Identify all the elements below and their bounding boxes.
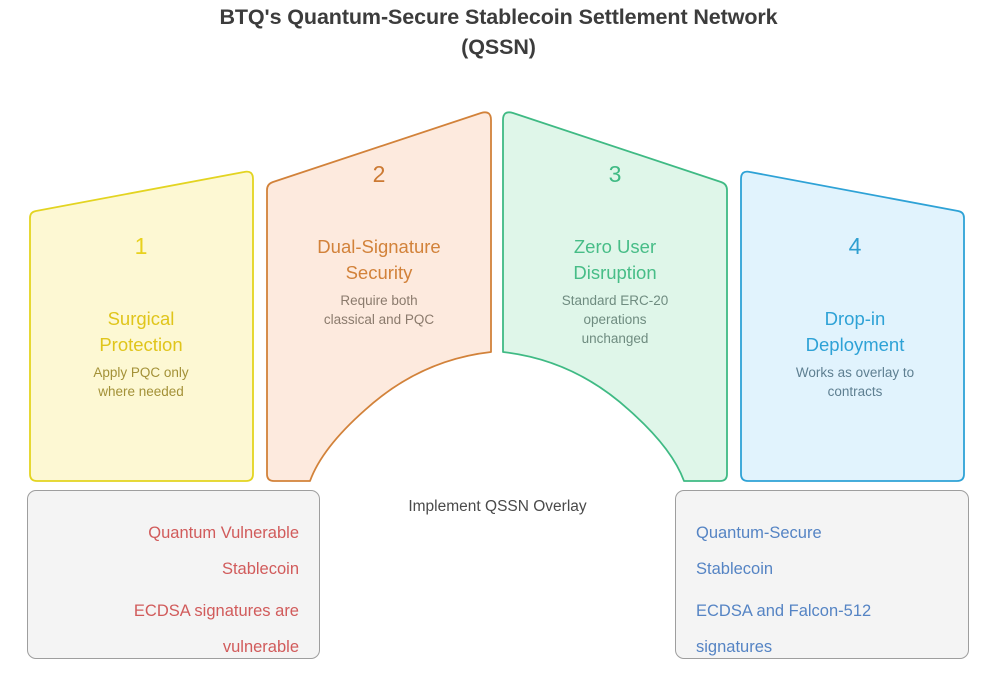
card-3-desc-line-2: operations (504, 310, 726, 329)
card-2-desc-line-1: Require both (268, 291, 490, 310)
right-box-title-line-2: Stablecoin (696, 557, 948, 581)
card-2-gap (268, 285, 490, 291)
card-3-title-line-2: Disruption (504, 260, 726, 286)
card-3-spacer (504, 188, 726, 234)
card-1-spacer (28, 260, 254, 306)
card-shape-2[interactable] (267, 112, 491, 481)
center-caption: Implement QSSN Overlay (330, 496, 665, 518)
card-4-number: 4 (742, 232, 968, 260)
diagram-canvas: BTQ's Quantum-Secure Stablecoin Settleme… (0, 0, 997, 675)
card-3-title-line-1: Zero User (504, 234, 726, 260)
card-4-title-line-2: Deployment (742, 332, 968, 358)
card-4-desc-line-2: contracts (742, 382, 968, 401)
card-3-desc-line-3: unchanged (504, 329, 726, 348)
card-shape-4[interactable] (741, 172, 964, 481)
card-3-number: 3 (504, 160, 726, 188)
right-box-sub-line-2: signatures (696, 635, 948, 659)
card-4-title-line-1: Drop-in (742, 306, 968, 332)
page-title: BTQ's Quantum-Secure Stablecoin Settleme… (0, 2, 997, 62)
card-2-number: 2 (268, 160, 490, 188)
card-4-desc-line-1: Works as overlay to (742, 363, 968, 382)
right-box-sub-line-1: ECDSA and Falcon-512 (696, 599, 948, 623)
right-box-title-line-1: Quantum-Secure (696, 521, 948, 545)
card-3-gap (504, 285, 726, 291)
left-box-title-line-1: Quantum Vulnerable (48, 521, 299, 545)
card-shape-3[interactable] (503, 112, 727, 481)
left-box-sub-line-2: vulnerable (48, 635, 299, 659)
card-3-desc-line-1: Standard ERC-20 (504, 291, 726, 310)
card-shape-1[interactable] (30, 172, 253, 481)
card-1-title-line-1: Surgical (28, 306, 254, 332)
card-2-spacer (268, 188, 490, 234)
left-box-sub-line-1: ECDSA signatures are (48, 599, 299, 623)
card-1-gap (28, 357, 254, 363)
left-box-title-line-2: Stablecoin (48, 557, 299, 581)
card-1-desc-line-1: Apply PQC only (28, 363, 254, 382)
card-1-desc-line-2: where needed (28, 382, 254, 401)
card-4[interactable]: 4 Drop-in Deployment Works as overlay to… (742, 232, 968, 401)
card-4-spacer (742, 260, 968, 306)
title-line-2: (QSSN) (0, 32, 997, 62)
card-1-title-line-2: Protection (28, 332, 254, 358)
quantum-vulnerable-box[interactable]: Quantum Vulnerable Stablecoin ECDSA sign… (27, 490, 320, 659)
card-2-title-line-2: Security (268, 260, 490, 286)
card-2[interactable]: 2 Dual-Signature Security Require both c… (268, 160, 490, 329)
card-1-number: 1 (28, 232, 254, 260)
card-1[interactable]: 1 Surgical Protection Apply PQC only whe… (28, 232, 254, 401)
quantum-secure-box[interactable]: Quantum-Secure Stablecoin ECDSA and Falc… (675, 490, 969, 659)
card-3[interactable]: 3 Zero User Disruption Standard ERC-20 o… (504, 160, 726, 348)
card-2-desc-line-2: classical and PQC (268, 310, 490, 329)
title-line-1: BTQ's Quantum-Secure Stablecoin Settleme… (0, 2, 997, 32)
card-4-gap (742, 357, 968, 363)
card-2-title-line-1: Dual-Signature (268, 234, 490, 260)
